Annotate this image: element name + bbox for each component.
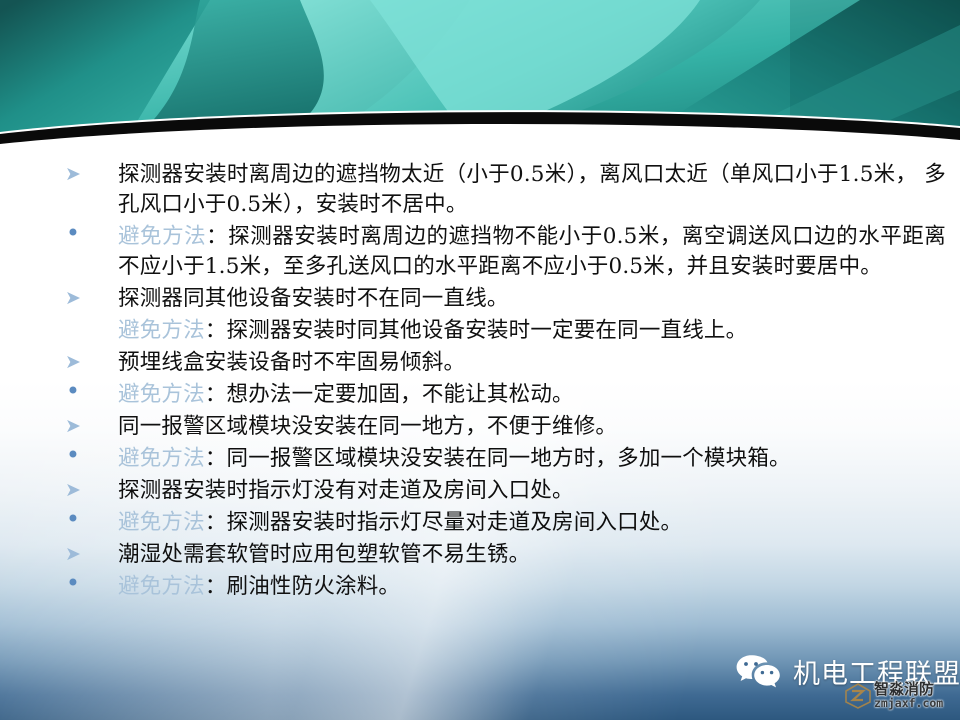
list-item: ➤ 预埋线盒安装设备时不牢固易倾斜。 [0,348,960,378]
list-item-lead: 避免方法 [118,224,206,249]
triangle-right-icon: ➤ [62,353,84,372]
header-banner [0,0,960,150]
list-item: • 避免方法：同一报警区域模块没安装在同一地方时，多加一个模块箱。 [0,444,960,474]
list-item-text: 避免方法：探测器安装时指示灯尽量对走道及房间入口处。 [118,508,946,538]
list-item: ➤ 潮湿处需套软管时应用包塑软管不易生锈。 [0,540,960,570]
list-item-text: 避免方法：同一报警区域模块没安装在同一地方时，多加一个模块箱。 [118,444,946,474]
list-item-text: 潮湿处需套软管时应用包塑软管不易生锈。 [118,540,946,570]
list-item: • 避免方法：想办法一定要加固，不能让其松动。 [0,380,960,410]
list-item-lead: 避免方法 [118,510,205,535]
watermark-title: 智淼消防 [874,682,943,697]
list-item-body: ：同一报警区域模块没安装在同一地方时，多加一个模块箱。 [205,446,791,471]
triangle-right-icon: ➤ [62,289,84,308]
triangle-right-icon: ➤ [62,417,84,436]
list-item-body: 潮湿处需套软管时应用包塑软管不易生锈。 [118,542,530,567]
list-item: ➤ 同一报警区域模块没安装在同一地方，不便于维修。 [0,412,960,442]
wechat-icon [735,653,783,691]
watermark-text: 智淼消防 zmjaxf.com [874,682,943,710]
list-item-body: 预埋线盒安装设备时不牢固易倾斜。 [118,350,465,375]
list-item-text: 预埋线盒安装设备时不牢固易倾斜。 [118,348,946,378]
wechat-icon-art [735,653,783,691]
watermark-url: zmjaxf.com [874,698,943,710]
triangle-right-icon: ➤ [62,165,84,184]
list-item-text: 避免方法：探测器安装时离周边的遮挡物不能小于0.5米，离空调送风口边的水平距离不… [118,222,946,282]
triangle-right-icon: ➤ [62,545,84,564]
list-item: 避免方法：探测器安装时同其他设备安装时一定要在同一直线上。 [0,316,960,346]
watermark: 智淼消防 zmjaxf.com [845,682,943,710]
list-item-lead: 避免方法 [118,382,205,407]
slide-canvas: ➤ 探测器安装时离周边的遮挡物太近（小于0.5米），离风口太近（单风口小于1.5… [0,0,960,720]
list-item-body: ：探测器安装时离周边的遮挡物不能小于0.5米，离空调送风口边的水平距离不应小于1… [118,224,946,279]
bullet-dot-icon: • [62,507,84,531]
list-item-body: ：刷油性防火涂料。 [205,574,400,599]
zm-monogram-icon [845,683,871,709]
list-item: • 避免方法：探测器安装时离周边的遮挡物不能小于0.5米，离空调送风口边的水平距… [0,222,960,282]
list-item-body: ：探测器安装时同其他设备安装时一定要在同一直线上。 [205,318,748,343]
triangle-right-icon: ➤ [62,481,84,500]
list-item: • 避免方法：探测器安装时指示灯尽量对走道及房间入口处。 [0,508,960,538]
list-item-text: 避免方法：想办法一定要加固，不能让其松动。 [118,380,946,410]
list-item-text: 探测器同其他设备安装时不在同一直线。 [118,284,946,314]
list-item: ➤ 探测器同其他设备安装时不在同一直线。 [0,284,960,314]
list-item: • 避免方法：刷油性防火涂料。 [0,572,960,602]
bullet-list: ➤ 探测器安装时离周边的遮挡物太近（小于0.5米），离风口太近（单风口小于1.5… [0,160,960,604]
list-item-lead: 避免方法 [118,574,205,599]
list-item-text: 避免方法：刷油性防火涂料。 [118,572,946,602]
list-item-text: 探测器安装时离周边的遮挡物太近（小于0.5米），离风口太近（单风口小于1.5米，… [118,160,946,220]
zm-monogram-art [845,683,871,709]
list-item: ➤ 探测器安装时指示灯没有对走道及房间入口处。 [0,476,960,506]
list-item-body: ：探测器安装时指示灯尽量对走道及房间入口处。 [205,510,682,535]
list-item-text: 避免方法：探测器安装时同其他设备安装时一定要在同一直线上。 [118,316,946,346]
list-item-body: 同一报警区域模块没安装在同一地方，不便于维修。 [118,414,617,439]
list-item-body: 探测器同其他设备安装时不在同一直线。 [118,286,509,311]
list-item: ➤ 探测器安装时离周边的遮挡物太近（小于0.5米），离风口太近（单风口小于1.5… [0,160,960,220]
list-item-body: 探测器安装时离周边的遮挡物太近（小于0.5米），离风口太近（单风口小于1.5米，… [118,162,946,217]
list-item-text: 探测器安装时指示灯没有对走道及房间入口处。 [118,476,946,506]
list-item-lead: 避免方法 [118,446,205,471]
list-item-body: 探测器安装时指示灯没有对走道及房间入口处。 [118,478,574,503]
bullet-dot-icon: • [62,571,84,595]
list-item-lead: 避免方法 [118,318,205,343]
list-item-text: 同一报警区域模块没安装在同一地方，不便于维修。 [118,412,946,442]
bullet-dot-icon: • [62,443,84,467]
bullet-dot-icon: • [62,221,84,245]
bullet-dot-icon: • [62,379,84,403]
banner-artwork [0,0,960,150]
list-item-body: ：想办法一定要加固，不能让其松动。 [205,382,574,407]
